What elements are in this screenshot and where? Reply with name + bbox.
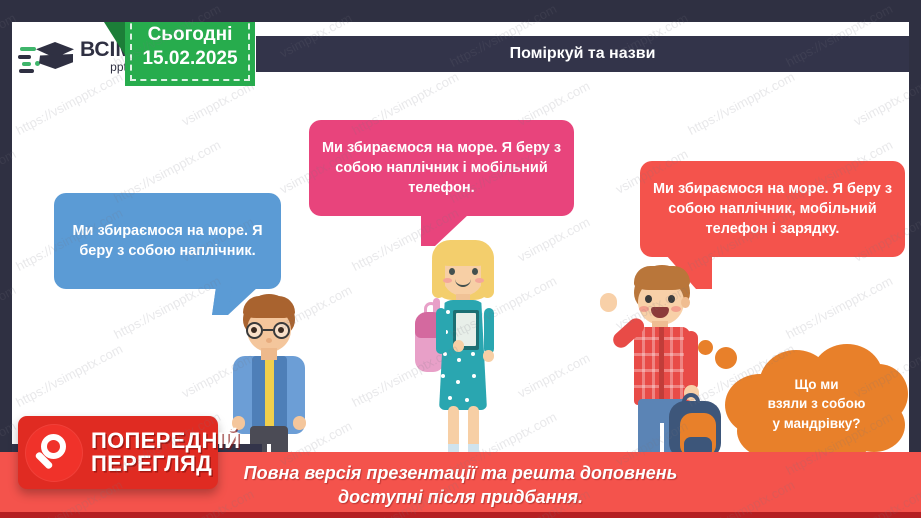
thought-line-1: Що ми	[794, 375, 838, 395]
speech-bubble-pink: Ми збираємося на море. Я беру з собою на…	[309, 120, 574, 216]
purchase-banner-line-1: Повна версія презентації та решта доповн…	[244, 461, 678, 485]
page-title: Поміркуй та назви	[510, 45, 656, 63]
slide-title-bar: Поміркуй та назви	[256, 36, 909, 72]
magnifier-icon	[25, 424, 83, 482]
character-girl-with-book	[412, 240, 517, 484]
date-badge: Сьогодні 15.02.2025	[125, 22, 255, 86]
graduation-cap-icon	[18, 34, 76, 78]
watermark-text: https://vsimpptx.com	[545, 0, 657, 2]
thought-cloud: Що ми взяли з собою у мандрівку?	[725, 344, 908, 464]
speech-bubble-blue-text: Ми збираємося на море. Я беру з собою на…	[66, 221, 269, 261]
date-badge-label: Сьогодні	[148, 23, 233, 47]
watermark-text: https://vsimpptx.com	[209, 0, 321, 2]
watermark-text: https://vsimpptx.com	[881, 0, 921, 2]
thought-line-2: взяли з собою	[768, 394, 866, 414]
speech-bubble-red-text: Ми збираємося на море. Я беру з собою на…	[652, 179, 893, 239]
purchase-banner-edge	[0, 512, 921, 518]
thought-cloud-text: Що ми взяли з собою у мандрівку?	[725, 344, 908, 464]
speech-bubble-red: Ми збираємося на море. Я беру з собою на…	[640, 161, 905, 257]
preview-badge-line-1: ПОПЕРЕДНІЙ	[91, 430, 240, 452]
date-badge-value: 15.02.2025	[142, 47, 237, 71]
speech-bubble-blue: Ми збираємося на море. Я беру з собою на…	[54, 193, 281, 289]
preview-badge-line-2: ПЕРЕГЛЯД	[91, 453, 240, 475]
speech-bubble-pink-text: Ми збираємося на море. Я беру з собою на…	[321, 138, 562, 198]
thought-line-3: у мандрівку?	[772, 414, 860, 434]
purchase-banner-line-2: доступні після придбання.	[338, 485, 583, 509]
preview-badge[interactable]: ПОПЕРЕДНІЙ ПЕРЕГЛЯД	[18, 416, 218, 489]
